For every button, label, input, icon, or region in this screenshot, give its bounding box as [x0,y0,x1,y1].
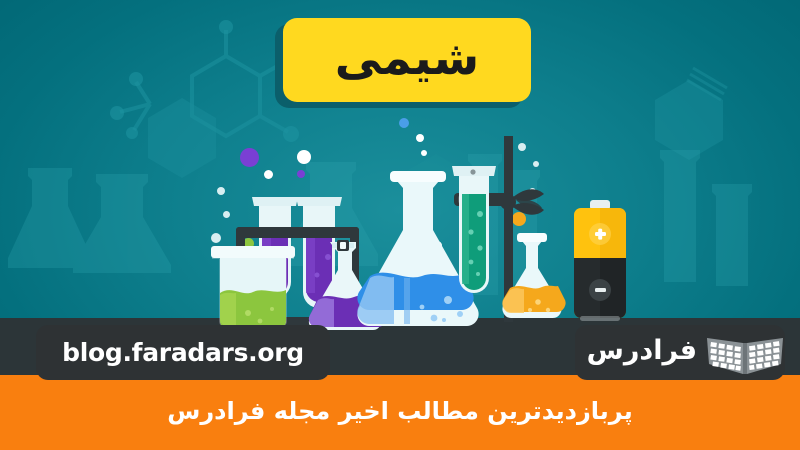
blog-url-badge[interactable]: blog.faradars.org [36,325,330,380]
round-flask [492,232,572,332]
battery-icon [570,200,630,326]
brand-name-label: فرادرس [587,335,697,366]
blog-url-label: blog.faradars.org [62,338,304,367]
brand-logo-badge[interactable]: فرادرس [575,325,785,380]
page-title: شیمی [335,35,479,82]
poster-canvas: شیمی blog.faradars.org [0,0,800,450]
footer-caption: پربازدیدترین مطالب اخیر مجله فرادرس [0,388,800,434]
beaker [208,243,298,331]
open-book-icon [705,331,785,375]
title-badge: شیمی [283,18,531,102]
footer-caption-label: پربازدیدترین مطالب اخیر مجله فرادرس [167,397,633,425]
